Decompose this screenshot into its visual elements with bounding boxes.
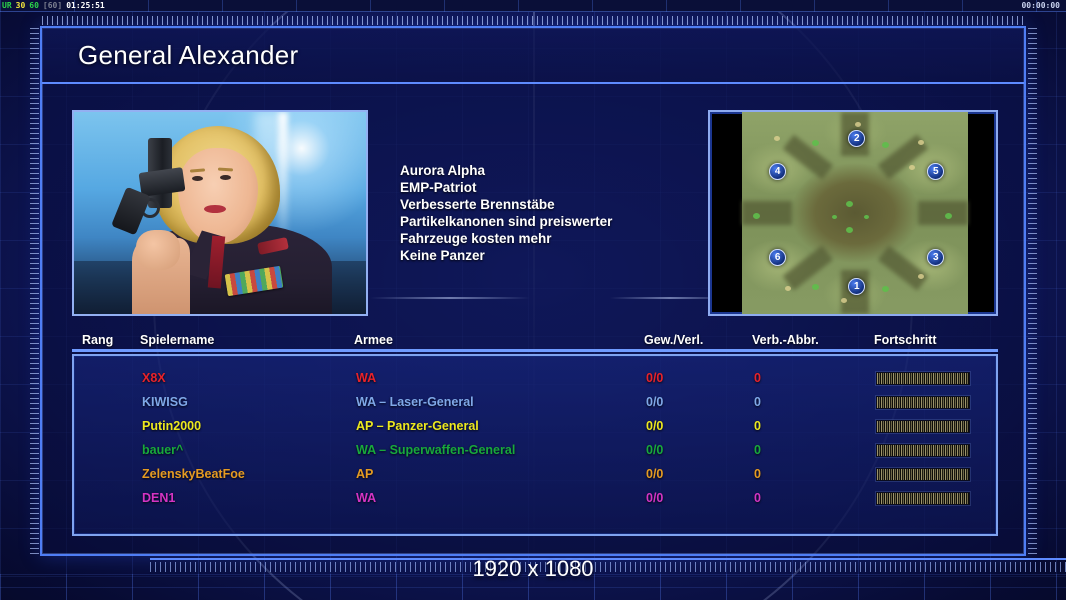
cell-progress [876, 468, 996, 481]
map-start-position: 6 [769, 249, 786, 266]
cell-player: ZelenskyBeatFoe [134, 467, 356, 481]
table-row[interactable]: bauer^ WA – Superwaffen-General 0/0 0 [74, 438, 996, 462]
cell-winloss: 0/0 [646, 443, 754, 457]
ability-item: Partikelkanonen sind preiswerter [400, 213, 700, 230]
cell-army: WA – Laser-General [356, 395, 646, 409]
column-header-progress: Fortschritt [874, 333, 998, 347]
cell-winloss: 0/0 [646, 419, 754, 433]
portrait-hand [136, 230, 180, 270]
column-header-disconnects: Verb.-Abbr. [752, 333, 874, 347]
ability-item: EMP-Patriot [400, 179, 700, 196]
general-portrait [72, 110, 368, 316]
cell-player: KIWISG [134, 395, 356, 409]
table-row[interactable]: ZelenskyBeatFoe AP 0/0 0 [74, 462, 996, 486]
cell-player: bauer^ [134, 443, 356, 457]
ability-item: Fahrzeuge kosten mehr [400, 230, 700, 247]
progress-bar [876, 372, 970, 385]
cell-winloss: 0/0 [646, 371, 754, 385]
map-start-position: 5 [927, 163, 944, 180]
cell-progress [876, 492, 996, 505]
top-status-bar: UR 30 60 [60] 01:25:51 00:00:00 [0, 0, 1066, 12]
table-body: X8X WA 0/0 0 KIWISG WA – Laser-General 0… [72, 354, 998, 536]
cell-winloss: 0/0 [646, 395, 754, 409]
status-value-30: 30 [14, 0, 28, 12]
progress-bar [876, 492, 970, 505]
column-header-winloss: Gew./Verl. [644, 333, 752, 347]
cell-progress [876, 444, 996, 457]
progress-bar [876, 468, 970, 481]
ability-item: Keine Panzer [400, 247, 700, 264]
map-start-position: 1 [848, 278, 865, 295]
portrait-eye-left [192, 176, 203, 181]
map-start-position: 4 [769, 163, 786, 180]
general-abilities-list: Aurora Alpha EMP-Patriot Verbesserte Bre… [400, 162, 700, 264]
map-preview-image: 1 2 3 4 5 6 [742, 112, 968, 314]
status-clock: 01:25:51 [64, 0, 107, 12]
cell-player: Putin2000 [134, 419, 356, 433]
ruler-right [1028, 28, 1037, 554]
cell-disconnects: 0 [754, 491, 876, 505]
cell-player: X8X [134, 371, 356, 385]
cell-disconnects: 0 [754, 419, 876, 433]
ability-item: Aurora Alpha [400, 162, 700, 179]
decorative-line-left [370, 297, 530, 299]
general-info-row: Aurora Alpha EMP-Patriot Verbesserte Bre… [72, 110, 998, 316]
column-header-rank: Rang [72, 333, 132, 347]
progress-bar [876, 444, 970, 457]
cell-army: AP – Panzer-General [356, 419, 646, 433]
portrait-lightbeam [278, 112, 288, 237]
progress-bar [876, 396, 970, 409]
cell-army: WA – Superwaffen-General [356, 443, 646, 457]
ability-item: Verbesserte Brennstäbe [400, 196, 700, 213]
panel-title-bar: General Alexander [42, 28, 1024, 84]
table-row[interactable]: X8X WA 0/0 0 [74, 366, 996, 390]
game-screen: UR 30 60 [60] 01:25:51 00:00:00 General … [0, 0, 1066, 600]
cell-army: WA [356, 371, 646, 385]
player-table: Rang Spielername Armee Gew./Verl. Verb.-… [72, 330, 998, 542]
map-start-position: 3 [927, 249, 944, 266]
column-header-player: Spielername [132, 333, 354, 347]
table-row[interactable]: KIWISG WA – Laser-General 0/0 0 [74, 390, 996, 414]
ruler-top [42, 16, 1024, 25]
status-right-clock: 00:00:00 [1021, 0, 1066, 12]
lobby-panel: General Alexander [40, 26, 1026, 556]
status-value-60-bracket: [60] [41, 0, 64, 12]
portrait-eye-right [220, 175, 231, 180]
map-preview-frame[interactable]: 1 2 3 4 5 6 [708, 110, 998, 316]
table-row[interactable]: Putin2000 AP – Panzer-General 0/0 0 [74, 414, 996, 438]
progress-bar [876, 420, 970, 433]
table-row[interactable]: DEN1 WA 0/0 0 [74, 486, 996, 510]
cell-progress [876, 420, 996, 433]
cell-disconnects: 0 [754, 443, 876, 457]
cell-progress [876, 372, 996, 385]
cell-progress [876, 396, 996, 409]
cell-army: WA [356, 491, 646, 505]
cell-player: DEN1 [134, 491, 356, 505]
portrait-lips [204, 205, 226, 213]
cell-disconnects: 0 [754, 467, 876, 481]
cell-winloss: 0/0 [646, 491, 754, 505]
cell-winloss: 0/0 [646, 467, 754, 481]
resolution-label: 1920 x 1080 [0, 556, 1066, 582]
cell-army: AP [356, 467, 646, 481]
status-label-ur: UR [0, 0, 14, 12]
ruler-left [30, 28, 39, 554]
column-header-army: Armee [354, 333, 644, 347]
page-title: General Alexander [42, 40, 298, 71]
table-header-row: Rang Spielername Armee Gew./Verl. Verb.-… [72, 330, 998, 352]
cell-disconnects: 0 [754, 371, 876, 385]
cell-disconnects: 0 [754, 395, 876, 409]
status-value-60: 60 [27, 0, 41, 12]
